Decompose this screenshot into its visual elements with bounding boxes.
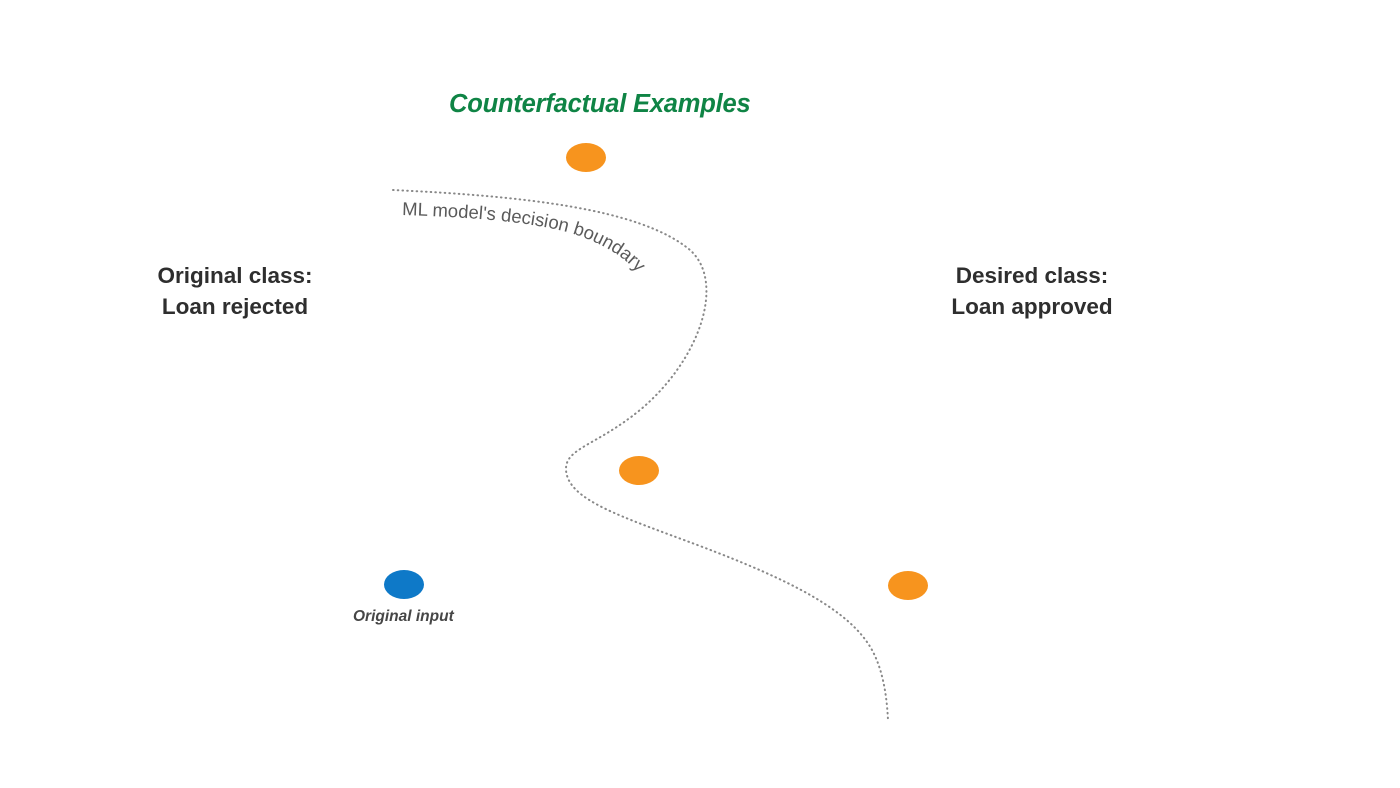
counterfactual-point-middle [619,456,659,485]
diagram-canvas: ML model's decision boundary Counterfact… [0,0,1400,788]
counterfactual-point-top [566,143,606,172]
original-class-label: Original class: Loan rejected [151,260,319,322]
original-class-label-line2: Loan rejected [151,291,319,322]
original-input-label: Original input [353,608,454,626]
desired-class-label-line1: Desired class: [941,260,1123,291]
page-title: Counterfactual Examples [449,90,751,119]
original-input-point [384,570,424,599]
desired-class-label: Desired class: Loan approved [941,260,1123,322]
original-class-label-line1: Original class: [151,260,319,291]
desired-class-label-line2: Loan approved [941,291,1123,322]
counterfactual-point-right [888,571,928,600]
boundary-caption-text: ML model's decision boundary [402,198,651,276]
